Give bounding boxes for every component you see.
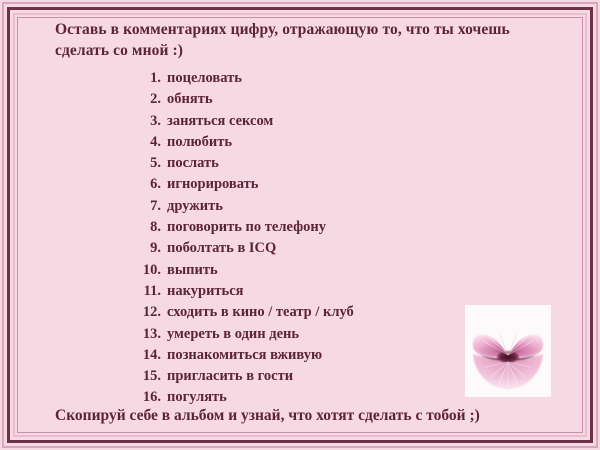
list-item: 2.обнять xyxy=(131,91,461,112)
list-item-number: 10. xyxy=(131,262,161,279)
list-item: 4.полюбить xyxy=(131,134,461,155)
list-item-number: 12. xyxy=(131,304,161,321)
list-item-label: дружить xyxy=(167,198,223,215)
list-item-label: поболтать в ICQ xyxy=(167,240,276,257)
list-item-number: 2. xyxy=(131,91,161,108)
list-item-number: 16. xyxy=(131,389,161,406)
list-item-number: 3. xyxy=(131,113,161,130)
list-item-label: накуриться xyxy=(167,283,244,300)
list-item-label: умереть в один день xyxy=(167,326,299,343)
list-item-number: 7. xyxy=(131,198,161,215)
list-item-number: 1. xyxy=(131,70,161,87)
lips-kiss-image xyxy=(465,305,551,397)
list-item: 13.умереть в один день xyxy=(131,326,461,347)
list-item: 9.поболтать в ICQ xyxy=(131,240,461,261)
headline-text: Оставь в комментариях цифру, отражающую … xyxy=(55,19,555,61)
poster-content: Оставь в комментариях цифру, отражающую … xyxy=(19,19,581,431)
list-item-label: познакомиться вживую xyxy=(167,347,322,364)
list-item-label: поговорить по телефону xyxy=(167,219,326,236)
list-item-number: 13. xyxy=(131,326,161,343)
list-item-number: 11. xyxy=(131,283,161,300)
list-item-number: 15. xyxy=(131,368,161,385)
list-item: 5.послать xyxy=(131,155,461,176)
list-item-label: поцеловать xyxy=(167,70,242,87)
numbered-list: 1.поцеловать2.обнять3.заняться сексом4.п… xyxy=(131,70,461,411)
poster-image: Оставь в комментариях цифру, отражающую … xyxy=(0,0,600,450)
list-item: 11.накуриться xyxy=(131,283,461,304)
list-item-label: послать xyxy=(167,155,219,172)
list-item: 1.поцеловать xyxy=(131,70,461,91)
list-item-label: сходить в кино / театр / клуб xyxy=(167,304,354,321)
list-item-label: полюбить xyxy=(167,134,232,151)
list-item-number: 8. xyxy=(131,219,161,236)
list-item: 15.пригласить в гости xyxy=(131,368,461,389)
list-item-label: обнять xyxy=(167,91,213,108)
list-item: 14.познакомиться вживую xyxy=(131,347,461,368)
list-item: 3.заняться сексом xyxy=(131,113,461,134)
list-item-number: 9. xyxy=(131,240,161,257)
lips-kiss-icon xyxy=(465,305,551,397)
list-item-label: игнорировать xyxy=(167,176,258,193)
list-item-number: 5. xyxy=(131,155,161,172)
footer-text: Скопируй себе в альбом и узнай, что хотя… xyxy=(55,407,575,425)
list-item-number: 14. xyxy=(131,347,161,364)
list-item: 10.выпить xyxy=(131,262,461,283)
list-item: 8.поговорить по телефону xyxy=(131,219,461,240)
list-item-label: пригласить в гости xyxy=(167,368,293,385)
list-item-label: погулять xyxy=(167,389,227,406)
list-item: 7.дружить xyxy=(131,198,461,219)
list-item: 6.игнорировать xyxy=(131,176,461,197)
list-item: 12.сходить в кино / театр / клуб xyxy=(131,304,461,325)
list-item-number: 4. xyxy=(131,134,161,151)
list-item-number: 6. xyxy=(131,176,161,193)
list-item-label: заняться сексом xyxy=(167,113,273,130)
list-item-label: выпить xyxy=(167,262,218,279)
